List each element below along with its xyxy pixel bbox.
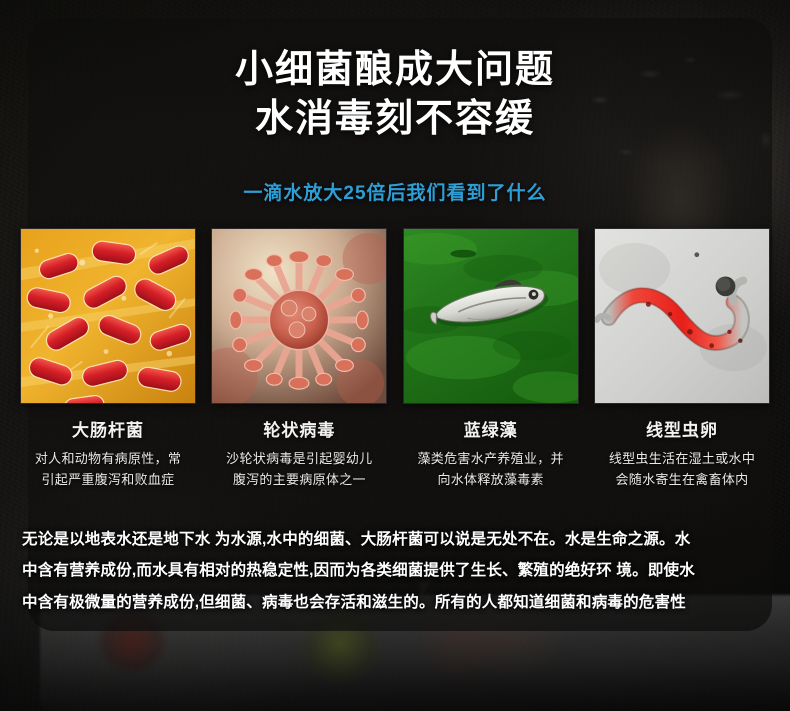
card-description-line-2: 腹泻的主要病原体之一 [211, 469, 387, 490]
bottom-paragraph-line-2: 中含有营养成份,而水具有相对的热稳定性,因而为各类细菌提供了生长、繁殖的绝好环 … [22, 555, 776, 586]
card-description-line-2: 向水体释放藻毒素 [403, 469, 579, 490]
card-description-line-2: 会随水寄生在禽畜体内 [594, 469, 770, 490]
card-description-line-1: 藻类危害水产养殖业，并 [403, 448, 579, 469]
bottom-paragraph-line-3: 中含有极微量的营养成份,但细菌、病毒也会存活和滋生的。所有的人都知道细菌和病毒的… [22, 587, 776, 618]
subtitle: 一滴水放大25倍后我们看到了什么 [0, 178, 790, 205]
list-item[interactable]: 轮状病毒 沙轮状病毒是引起婴幼儿 腹泻的主要病原体之一 [211, 228, 387, 490]
list-item[interactable]: 线型虫卵 线型虫生活在湿土或水中 会随水寄生在禽畜体内 [594, 228, 770, 490]
poster-content: 小细菌酿成大问题 水消毒刻不容缓 一滴水放大25倍后我们看到了什么 [0, 0, 790, 711]
card-description: 线型虫生活在湿土或水中 会随水寄生在禽畜体内 [594, 448, 770, 490]
rotavirus-photo [211, 228, 387, 404]
card-description-line-1: 沙轮状病毒是引起婴幼儿 [211, 448, 387, 469]
card-title: 轮状病毒 [211, 416, 387, 441]
list-item[interactable]: 蓝绿藻 藻类危害水产养殖业，并 向水体释放藻毒素 [403, 228, 579, 490]
card-title: 线型虫卵 [594, 416, 770, 441]
headline-line-1: 小细菌酿成大问题 [235, 49, 555, 91]
nematode-worm-egg-photo [594, 228, 770, 404]
ecoli-bacteria-photo [20, 228, 196, 404]
pathogen-card-list: 大肠杆菌 对人和动物有病原性，常 引起严重腹泻和败血症 [20, 228, 770, 490]
page-title: 小细菌酿成大问题 水消毒刻不容缓 [0, 46, 790, 143]
card-description: 沙轮状病毒是引起婴幼儿 腹泻的主要病原体之一 [211, 448, 387, 490]
blue-green-algae-dead-fish-photo [403, 228, 579, 404]
card-description: 对人和动物有病原性，常 引起严重腹泻和败血症 [20, 448, 196, 490]
headline-line-2: 水消毒刻不容缓 [0, 95, 790, 144]
promotional-poster: 小细菌酿成大问题 水消毒刻不容缓 一滴水放大25倍后我们看到了什么 [0, 0, 790, 711]
card-description-line-1: 对人和动物有病原性，常 [20, 448, 196, 469]
list-item[interactable]: 大肠杆菌 对人和动物有病原性，常 引起严重腹泻和败血症 [20, 228, 196, 490]
bottom-paragraph-line-1: 无论是以地表水还是地下水 为水源,水中的细菌、大肠杆菌可以说是无处不在。水是生命… [22, 524, 776, 555]
card-title: 蓝绿藻 [403, 416, 579, 441]
bottom-paragraph: 无论是以地表水还是地下水 为水源,水中的细菌、大肠杆菌可以说是无处不在。水是生命… [22, 524, 776, 618]
card-title: 大肠杆菌 [20, 416, 196, 441]
card-description-line-1: 线型虫生活在湿土或水中 [594, 448, 770, 469]
card-description-line-2: 引起严重腹泻和败血症 [20, 469, 196, 490]
card-description: 藻类危害水产养殖业，并 向水体释放藻毒素 [403, 448, 579, 490]
